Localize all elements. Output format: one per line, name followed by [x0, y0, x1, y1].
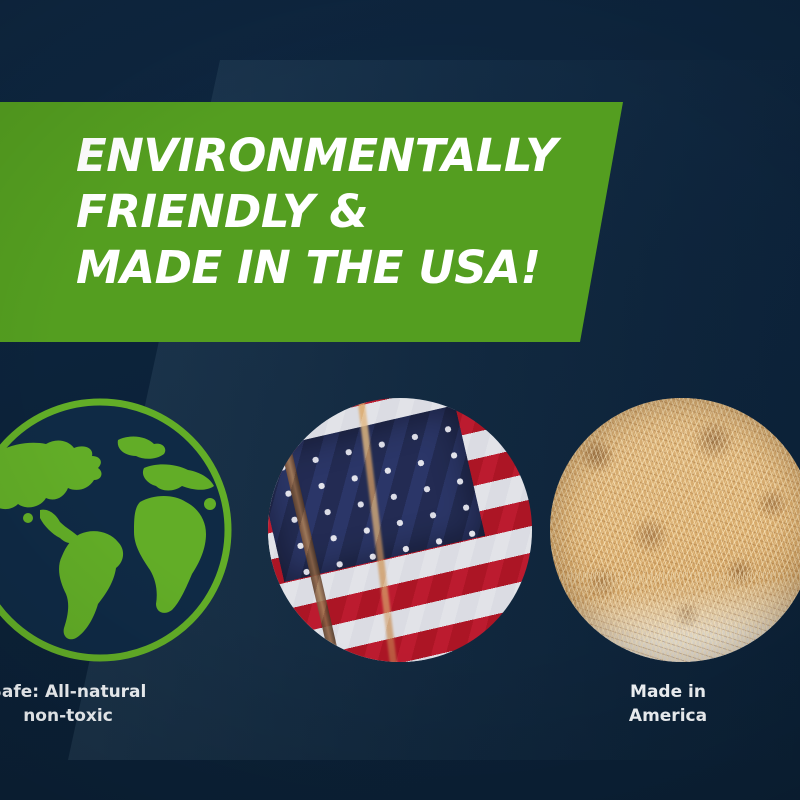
feature-item-quality: Consistent, quality controlled, backed b… [550, 398, 800, 662]
headline-text: ENVIRONMENTALLY FRIENDLY & MADE IN THE U… [76, 128, 596, 296]
feature-caption-safe: Safe: All-natural non-toxic [0, 680, 200, 728]
straw-fiber-blanket-photo [550, 398, 800, 662]
fiber-inner-shadow [550, 398, 800, 662]
american-flag-photo [268, 398, 532, 662]
feature-item-safe: Safe: All-natural non-toxic [0, 398, 232, 662]
feature-caption-made-in-america: Made in America [536, 680, 800, 728]
globe-icon [0, 398, 232, 662]
feature-item-made-in-america: Made in America [268, 398, 532, 662]
feature-row: Safe: All-natural non-toxic Made in Amer… [0, 398, 800, 798]
flag-fold-shading [268, 398, 532, 662]
promo-banner: ENVIRONMENTALLY FRIENDLY & MADE IN THE U… [0, 0, 800, 800]
